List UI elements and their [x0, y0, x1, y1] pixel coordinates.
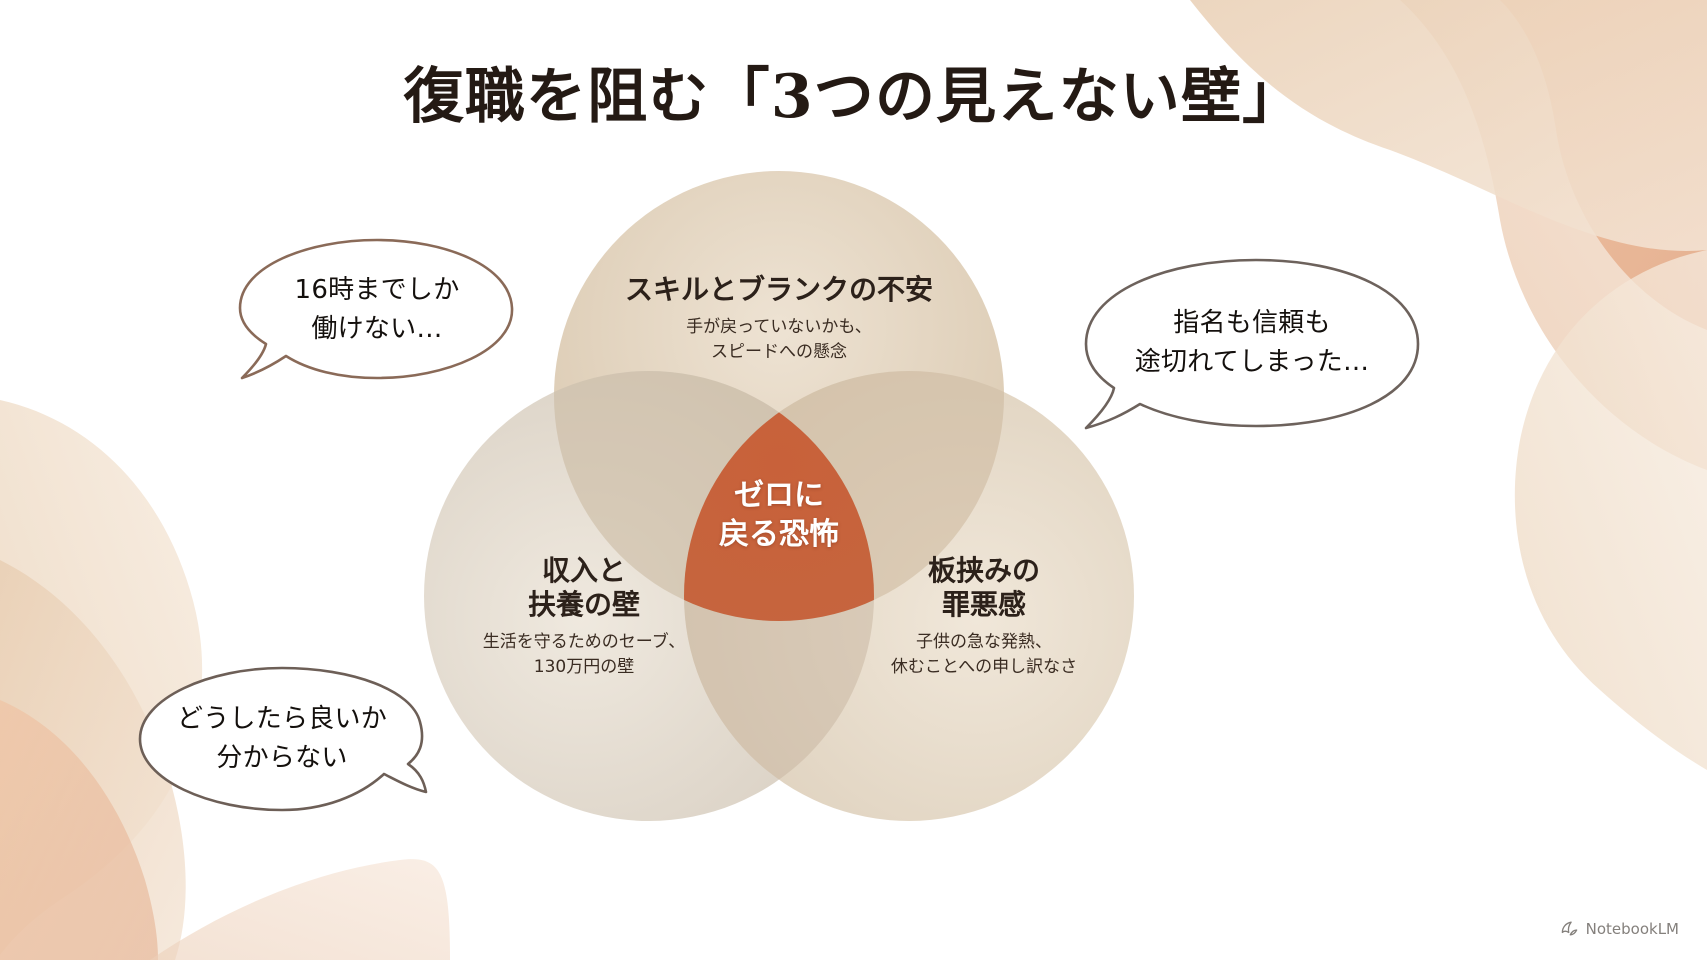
notebooklm-logo-icon	[1560, 919, 1579, 938]
speech-bubble-bottom-left-text: どうしたら良いか 分からない	[132, 660, 432, 818]
venn-diagram: スキルとブランクの不安 手が戻っていないかも、 スピードへの懸念 収入と 扶養の…	[419, 166, 1139, 826]
notebooklm-watermark-label: NotebookLM	[1586, 920, 1679, 938]
speech-bubble-top-left-text: 16時までしか 働けない…	[232, 232, 522, 387]
venn-center-label: ゼロに 戻る恐怖	[649, 476, 909, 554]
speech-bubble-top-left: 16時までしか 働けない…	[232, 232, 522, 387]
speech-bubble-top-right-text: 指名も信頼も 途切れてしまった…	[1078, 252, 1426, 434]
page-title: 復職を阻む「3つの見えない壁」	[0, 48, 1707, 135]
notebooklm-watermark: NotebookLM	[1560, 919, 1679, 938]
speech-bubble-bottom-left: どうしたら良いか 分からない	[132, 660, 432, 818]
speech-bubble-top-right: 指名も信頼も 途切れてしまった…	[1078, 252, 1426, 434]
